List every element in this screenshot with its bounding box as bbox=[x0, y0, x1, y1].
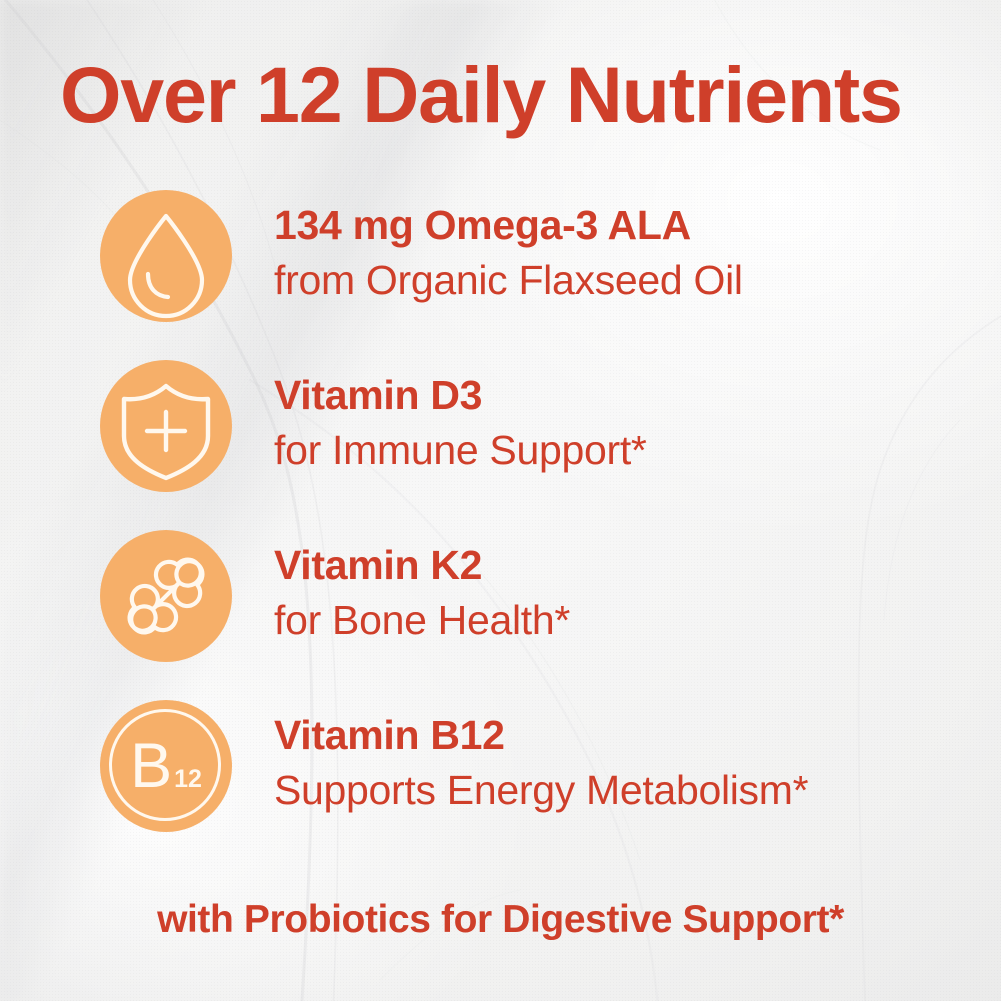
bone-icon-badge bbox=[100, 530, 232, 662]
list-item: 134 mg Omega-3 ALA from Organic Flaxseed… bbox=[0, 186, 1001, 356]
nutrient-subtitle: for Bone Health* bbox=[274, 593, 570, 648]
list-item: Vitamin D3 for Immune Support* bbox=[0, 356, 1001, 526]
droplet-icon bbox=[100, 190, 232, 322]
shield-plus-icon bbox=[100, 360, 232, 492]
bone-icon bbox=[100, 530, 232, 662]
b12-subscript: 12 bbox=[174, 767, 202, 792]
nutrient-subtitle: Supports Energy Metabolism* bbox=[274, 763, 808, 818]
list-item: B 12 Vitamin B12 Supports Energy Metabol… bbox=[0, 696, 1001, 866]
nutrient-title: Vitamin B12 bbox=[274, 708, 808, 763]
nutrition-infographic: Over 12 Daily Nutrients 134 mg Omega-3 A… bbox=[0, 0, 1001, 1001]
page-title: Over 12 Daily Nutrients bbox=[60, 47, 950, 143]
nutrient-text: 134 mg Omega-3 ALA from Organic Flaxseed… bbox=[274, 198, 743, 308]
shield-plus-icon-badge bbox=[100, 360, 232, 492]
nutrient-title: Vitamin D3 bbox=[274, 368, 647, 423]
nutrient-list: 134 mg Omega-3 ALA from Organic Flaxseed… bbox=[0, 186, 1001, 866]
nutrient-title: 134 mg Omega-3 ALA bbox=[274, 198, 743, 253]
b12-icon-badge: B 12 bbox=[100, 700, 232, 832]
nutrient-subtitle: for Immune Support* bbox=[274, 423, 647, 478]
nutrient-text: Vitamin B12 Supports Energy Metabolism* bbox=[274, 708, 808, 818]
b12-icon: B 12 bbox=[100, 700, 232, 832]
droplet-icon-badge bbox=[100, 190, 232, 322]
nutrient-text: Vitamin K2 for Bone Health* bbox=[274, 538, 570, 648]
b12-letter: B bbox=[130, 735, 172, 798]
list-item: Vitamin K2 for Bone Health* bbox=[0, 526, 1001, 696]
nutrient-text: Vitamin D3 for Immune Support* bbox=[274, 368, 647, 478]
nutrient-title: Vitamin K2 bbox=[274, 538, 570, 593]
b12-glyph: B 12 bbox=[130, 735, 202, 798]
footnote-text: with Probiotics for Digestive Support* bbox=[0, 896, 1001, 944]
nutrient-subtitle: from Organic Flaxseed Oil bbox=[274, 253, 743, 308]
